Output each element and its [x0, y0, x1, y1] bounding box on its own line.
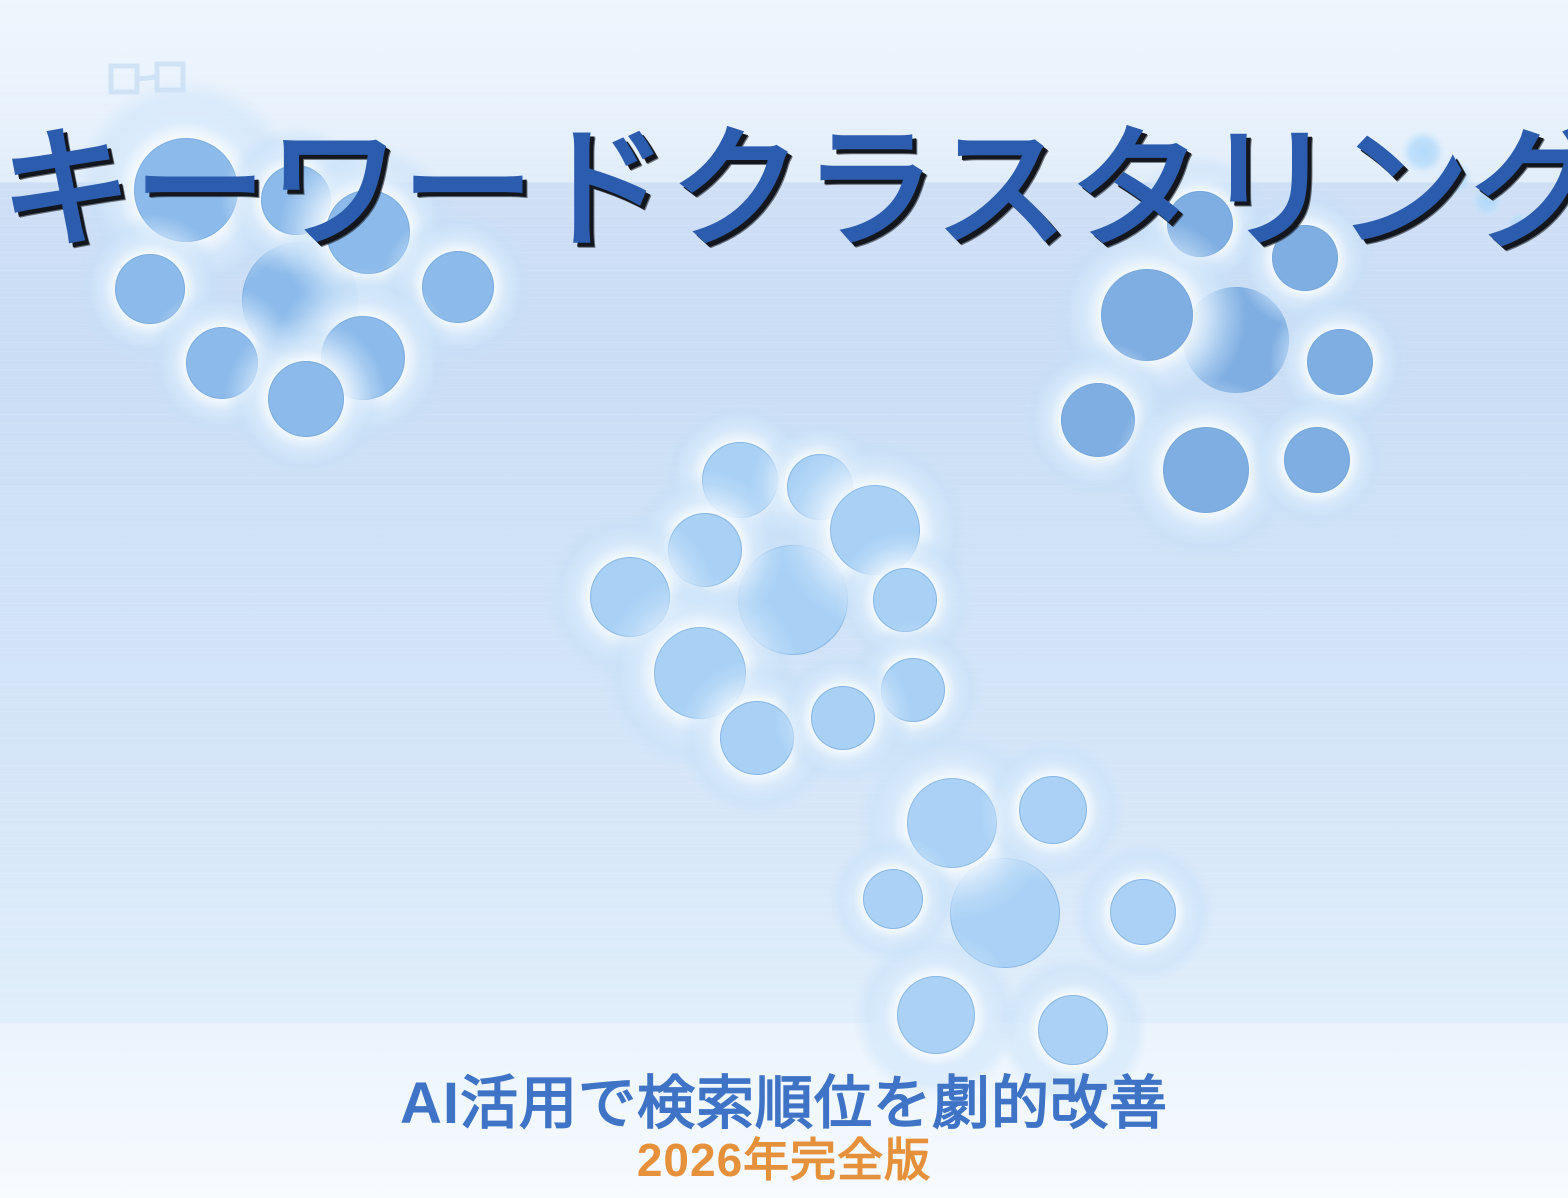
cluster-node: [1038, 995, 1108, 1065]
cluster-node: [811, 686, 875, 750]
cluster-node: [1019, 776, 1087, 844]
cluster-node: [863, 869, 923, 929]
slide-canvas: キーワードクラスタリング AI活用で検索順位を劇的改善 2026年完全版: [0, 0, 1568, 1198]
cluster-node: [1110, 879, 1176, 945]
page-title: キーワードクラスタリング: [0, 124, 1568, 256]
subtitle-block: AI活用で検索順位を劇的改善 2026年完全版: [0, 1074, 1568, 1185]
cluster-node: [1307, 329, 1373, 395]
cluster-node: [268, 361, 344, 437]
cluster-node: [897, 976, 975, 1054]
subtitle-text: AI活用で検索順位を劇的改善: [0, 1074, 1568, 1134]
edition-badge: 2026年完全版: [0, 1136, 1568, 1184]
cluster-node: [1284, 427, 1350, 493]
cluster-node: [1163, 427, 1249, 513]
